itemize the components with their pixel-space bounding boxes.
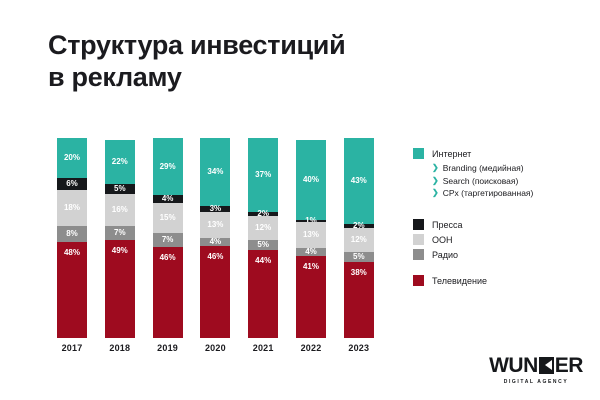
segment-value-label: 8% bbox=[66, 230, 78, 238]
segment-value-label: 38% bbox=[351, 269, 367, 277]
segment-value-label: 48% bbox=[64, 249, 80, 257]
bar-segment-tv-2023[interactable]: 38% bbox=[344, 262, 374, 338]
slide-canvas: Структура инвестиций в рекламу 20%6%18%8… bbox=[0, 0, 600, 400]
segment-value-label: 4% bbox=[305, 248, 317, 256]
segment-value-label: 46% bbox=[160, 254, 176, 262]
chevron-right-icon: ❯ bbox=[432, 164, 439, 172]
segment-value-label: 41% bbox=[303, 263, 319, 271]
bar-segment-radio-2021[interactable]: 5% bbox=[248, 240, 278, 250]
segment-value-label: 4% bbox=[162, 195, 174, 203]
bar-segment-radio-2020[interactable]: 4% bbox=[200, 238, 230, 246]
segment-value-label: 7% bbox=[114, 229, 126, 237]
segment-value-label: 49% bbox=[112, 247, 128, 255]
bar-segment-internet-2020[interactable]: 34% bbox=[200, 138, 230, 206]
page-title: Структура инвестиций в рекламу bbox=[48, 30, 428, 94]
bar-segment-press-2018[interactable]: 5% bbox=[105, 184, 135, 194]
legend-group-gap bbox=[413, 208, 593, 219]
logo-wordmark: WUN ER bbox=[486, 355, 586, 376]
bar-segment-radio-2018[interactable]: 7% bbox=[105, 226, 135, 240]
logo-d-glyph-icon bbox=[539, 357, 554, 374]
bar-segment-ooh-2017[interactable]: 18% bbox=[57, 190, 87, 226]
bar-segment-radio-2017[interactable]: 8% bbox=[57, 226, 87, 242]
legend-item-2[interactable]: OOH bbox=[413, 234, 593, 245]
bar-segment-internet-2018[interactable]: 22% bbox=[105, 140, 135, 184]
bar-segment-tv-2017[interactable]: 48% bbox=[57, 242, 87, 338]
legend-item-4[interactable]: Телевидение bbox=[413, 275, 593, 286]
legend-swatch-icon bbox=[413, 219, 424, 230]
x-axis-tick-2021: 2021 bbox=[240, 343, 286, 353]
legend-swatch-icon bbox=[413, 234, 424, 245]
segment-value-label: 40% bbox=[303, 176, 319, 184]
bar-segment-internet-2023[interactable]: 43% bbox=[344, 138, 374, 224]
bar-segment-ooh-2023[interactable]: 12% bbox=[344, 228, 374, 252]
chart-legend: Интернет❯Branding (медийная)❯Search (пои… bbox=[413, 148, 593, 290]
bar-segment-tv-2021[interactable]: 44% bbox=[248, 250, 278, 338]
legend-swatch-icon bbox=[413, 249, 424, 260]
legend-label: Телевидение bbox=[432, 276, 487, 286]
segment-value-label: 29% bbox=[160, 163, 176, 171]
bar-column-2022[interactable]: 40%1%13%4%41% bbox=[296, 138, 326, 338]
segment-value-label: 15% bbox=[160, 214, 176, 222]
segment-value-label: 22% bbox=[112, 158, 128, 166]
bar-segment-ooh-2020[interactable]: 13% bbox=[200, 212, 230, 238]
segment-value-label: 12% bbox=[255, 224, 271, 232]
segment-value-label: 13% bbox=[207, 221, 223, 229]
legend-subitem-1[interactable]: ❯Search (поисковая) bbox=[432, 176, 593, 186]
bar-column-2021[interactable]: 37%2%12%5%44% bbox=[248, 138, 278, 338]
bar-segment-tv-2019[interactable]: 46% bbox=[153, 247, 183, 338]
bar-segment-internet-2019[interactable]: 29% bbox=[153, 138, 183, 195]
bar-segment-ooh-2022[interactable]: 13% bbox=[296, 222, 326, 248]
legend-label: Радио bbox=[432, 250, 458, 260]
legend-subitem-2[interactable]: ❯CPx (таргетированная) bbox=[432, 188, 593, 198]
segment-value-label: 37% bbox=[255, 171, 271, 179]
bar-segment-internet-2017[interactable]: 20% bbox=[57, 138, 87, 178]
bar-segment-tv-2020[interactable]: 46% bbox=[200, 246, 230, 338]
bar-segment-radio-2022[interactable]: 4% bbox=[296, 248, 326, 256]
legend-subitem-label: Search (поисковая) bbox=[443, 176, 519, 186]
bar-column-2019[interactable]: 29%4%15%7%46% bbox=[153, 138, 183, 338]
logo-text-after: ER bbox=[555, 355, 583, 376]
legend-item-0[interactable]: Интернет bbox=[413, 148, 593, 159]
legend-sublist: ❯Branding (медийная)❯Search (поисковая)❯… bbox=[413, 163, 593, 198]
x-axis-labels: 2017201820192020202120222023 bbox=[57, 343, 392, 363]
legend-group-gap bbox=[413, 264, 593, 275]
chevron-right-icon: ❯ bbox=[432, 189, 439, 197]
legend-label: Интернет bbox=[432, 149, 471, 159]
segment-value-label: 18% bbox=[64, 204, 80, 212]
bar-segment-internet-2022[interactable]: 40% bbox=[296, 140, 326, 220]
segment-value-label: 46% bbox=[207, 253, 223, 261]
segment-value-label: 6% bbox=[66, 180, 78, 188]
legend-swatch-icon bbox=[413, 275, 424, 286]
logo-text-before: WUN bbox=[489, 355, 538, 376]
bar-column-2018[interactable]: 22%5%16%7%49% bbox=[105, 138, 135, 338]
bar-segment-tv-2018[interactable]: 49% bbox=[105, 240, 135, 338]
segment-value-label: 4% bbox=[210, 238, 222, 246]
segment-value-label: 43% bbox=[351, 177, 367, 185]
segment-value-label: 5% bbox=[353, 253, 365, 261]
segment-value-label: 34% bbox=[207, 168, 223, 176]
segment-value-label: 7% bbox=[162, 236, 174, 244]
bar-segment-radio-2023[interactable]: 5% bbox=[344, 252, 374, 262]
wunder-logo: WUN ER DIGITAL AGENCY bbox=[486, 355, 586, 385]
x-axis-tick-2022: 2022 bbox=[288, 343, 334, 353]
bar-segment-ooh-2019[interactable]: 15% bbox=[153, 203, 183, 233]
bar-column-2017[interactable]: 20%6%18%8%48% bbox=[57, 138, 87, 338]
segment-value-label: 5% bbox=[257, 241, 269, 249]
x-axis-tick-2020: 2020 bbox=[192, 343, 238, 353]
segment-value-label: 12% bbox=[351, 236, 367, 244]
segment-value-label: 13% bbox=[303, 231, 319, 239]
legend-subitem-0[interactable]: ❯Branding (медийная) bbox=[432, 163, 593, 173]
legend-subitem-label: Branding (медийная) bbox=[443, 163, 524, 173]
bar-column-2023[interactable]: 43%2%12%5%38% bbox=[344, 138, 374, 338]
logo-tagline: DIGITAL AGENCY bbox=[486, 379, 586, 385]
chevron-right-icon: ❯ bbox=[432, 177, 439, 185]
bar-column-2020[interactable]: 34%3%13%4%46% bbox=[200, 138, 230, 338]
x-axis-tick-2019: 2019 bbox=[145, 343, 191, 353]
legend-item-1[interactable]: Пресса bbox=[413, 219, 593, 230]
bar-segment-internet-2021[interactable]: 37% bbox=[248, 138, 278, 212]
bar-segment-press-2017[interactable]: 6% bbox=[57, 178, 87, 190]
stacked-bar-chart: 20%6%18%8%48%22%5%16%7%49%29%4%15%7%46%3… bbox=[57, 138, 392, 338]
x-axis-tick-2018: 2018 bbox=[97, 343, 143, 353]
bar-segment-press-2019[interactable]: 4% bbox=[153, 195, 183, 203]
segment-value-label: 20% bbox=[64, 154, 80, 162]
legend-swatch-icon bbox=[413, 148, 424, 159]
legend-label: OOH bbox=[432, 235, 453, 245]
x-axis-tick-2023: 2023 bbox=[336, 343, 382, 353]
bar-segment-ooh-2018[interactable]: 16% bbox=[105, 194, 135, 226]
bar-segment-ooh-2021[interactable]: 12% bbox=[248, 216, 278, 240]
x-axis-tick-2017: 2017 bbox=[49, 343, 95, 353]
segment-value-label: 16% bbox=[112, 206, 128, 214]
segment-value-label: 5% bbox=[114, 185, 126, 193]
segment-value-label: 44% bbox=[255, 257, 271, 265]
bar-segment-tv-2022[interactable]: 41% bbox=[296, 256, 326, 338]
legend-subitem-label: CPx (таргетированная) bbox=[443, 188, 534, 198]
legend-item-3[interactable]: Радио bbox=[413, 249, 593, 260]
bar-segment-radio-2019[interactable]: 7% bbox=[153, 233, 183, 247]
legend-label: Пресса bbox=[432, 220, 463, 230]
